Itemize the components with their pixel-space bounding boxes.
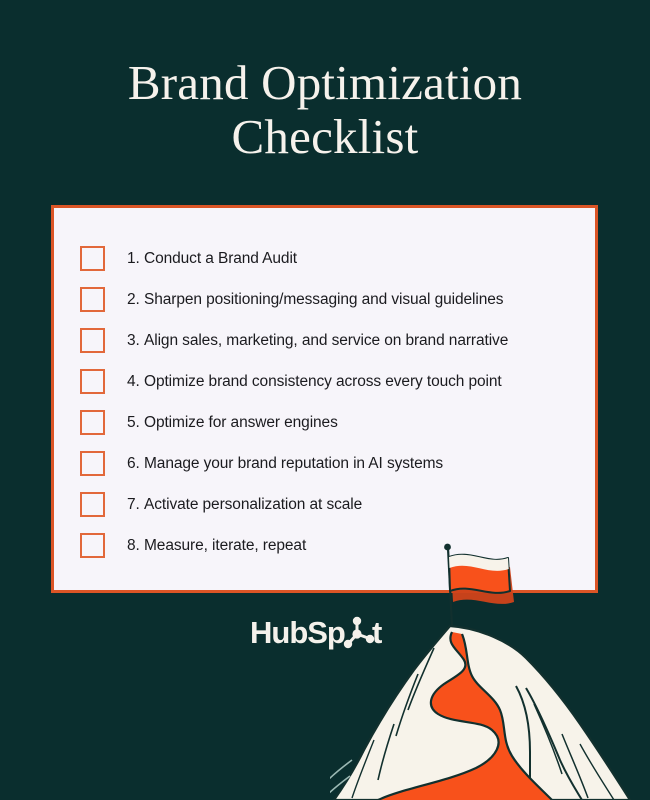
item-label-7: Activate personalization at scale: [144, 496, 362, 514]
item-label-8: Measure, iterate, repeat: [144, 537, 306, 555]
item-number-6: 6.: [127, 455, 144, 473]
mountain-illustration: [330, 528, 650, 800]
checklist-item-6[interactable]: 6. Manage your brand reputation in AI sy…: [80, 443, 569, 484]
checklist-item-5[interactable]: 5. Optimize for answer engines: [80, 402, 569, 443]
checkbox-3[interactable]: [80, 328, 105, 353]
item-number-1: 1.: [127, 250, 144, 268]
checklist-item-3[interactable]: 3. Align sales, marketing, and service o…: [80, 320, 569, 361]
checklist-item-2-text: 2. Sharpen positioning/messaging and vis…: [127, 291, 503, 309]
checkbox-4[interactable]: [80, 369, 105, 394]
flag-finial: [444, 544, 451, 551]
item-number-4: 4.: [127, 373, 144, 391]
item-number-2: 2.: [127, 291, 144, 309]
item-number-8: 8.: [127, 537, 144, 555]
checklist-item-4-text: 4. Optimize brand consistency across eve…: [127, 373, 502, 391]
item-label-1: Conduct a Brand Audit: [144, 250, 297, 268]
checklist-item-8-text: 8. Measure, iterate, repeat: [127, 537, 306, 555]
item-label-5: Optimize for answer engines: [144, 414, 338, 432]
checklist-item-6-text: 6. Manage your brand reputation in AI sy…: [127, 455, 443, 473]
checklist-item-3-text: 3. Align sales, marketing, and service o…: [127, 332, 508, 350]
checklist-item-1-text: 1. Conduct a Brand Audit: [127, 250, 297, 268]
title-line-2: Checklist: [60, 110, 590, 164]
checkbox-6[interactable]: [80, 451, 105, 476]
item-number-7: 7.: [127, 496, 144, 514]
checkbox-7[interactable]: [80, 492, 105, 517]
checkbox-1[interactable]: [80, 246, 105, 271]
checklist-item-5-text: 5. Optimize for answer engines: [127, 414, 338, 432]
item-label-3: Align sales, marketing, and service on b…: [144, 332, 508, 350]
checkbox-8[interactable]: [80, 533, 105, 558]
checkbox-2[interactable]: [80, 287, 105, 312]
checklist-item-2[interactable]: 2. Sharpen positioning/messaging and vis…: [80, 279, 569, 320]
page-title: Brand Optimization Checklist: [0, 56, 650, 164]
item-label-4: Optimize brand consistency across every …: [144, 373, 502, 391]
title-line-1: Brand Optimization: [60, 56, 590, 110]
checkbox-5[interactable]: [80, 410, 105, 435]
item-number-5: 5.: [127, 414, 144, 432]
item-label-6: Manage your brand reputation in AI syste…: [144, 455, 443, 473]
checklist-item-7[interactable]: 7. Activate personalization at scale: [80, 484, 569, 525]
checklist-item-1[interactable]: 1. Conduct a Brand Audit: [80, 238, 569, 279]
item-label-2: Sharpen positioning/messaging and visual…: [144, 291, 503, 309]
checklist-item-4[interactable]: 4. Optimize brand consistency across eve…: [80, 361, 569, 402]
item-number-3: 3.: [127, 332, 144, 350]
checklist-item-7-text: 7. Activate personalization at scale: [127, 496, 362, 514]
